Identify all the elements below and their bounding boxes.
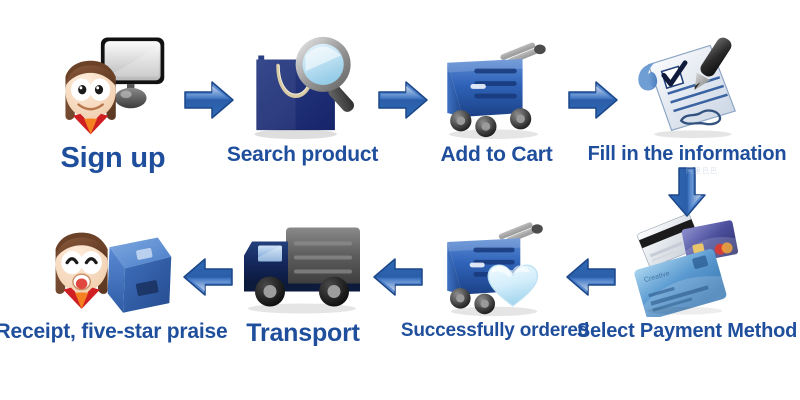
delivery-truck-icon (238, 212, 368, 317)
flowchart-canvas: Sign upSearch productAdd to CartFill in … (0, 0, 800, 400)
flow-step-search-product[interactable]: Search product (240, 30, 365, 165)
flow-step-label-sign-up: Sign up (61, 144, 166, 173)
user-at-computer-icon (48, 30, 178, 140)
flow-step-sign-up[interactable]: Sign up (48, 30, 178, 173)
flow-step-label-search-product: Search product (227, 144, 378, 165)
flow-step-receipt-five-star-praise[interactable]: Receipt, five-star praise (44, 212, 179, 342)
flow-step-fill-in-the-information[interactable]: Fill in the information (622, 30, 752, 164)
arrow-transport-to-receipt (182, 256, 234, 298)
flow-step-label-fill-in-the-information: Fill in the information (588, 144, 787, 164)
watermark-text: 阿里巴巴 (686, 166, 718, 176)
flow-step-label-transport: Transport (246, 321, 360, 346)
arrow-payment-to-ordered (565, 256, 617, 298)
customer-with-package-icon (44, 212, 179, 317)
flow-step-add-to-cart[interactable]: Add to Cart (434, 30, 559, 165)
flow-step-label-select-payment-method: Select Payment Method (577, 321, 797, 341)
arrow-signup-to-search (183, 79, 235, 121)
arrow-ordered-to-transport (372, 256, 424, 298)
flow-step-label-successfully-ordered: Successfully ordered (401, 321, 589, 340)
cart-with-heart-icon (430, 212, 560, 317)
credit-cards-icon: Creative (622, 212, 752, 317)
arrow-search-to-cart (377, 79, 429, 121)
arrow-cart-to-form (567, 79, 619, 121)
shopping-bag-magnifier-icon (240, 30, 365, 140)
shopping-cart-icon (434, 30, 559, 140)
flow-step-transport[interactable]: Transport (238, 212, 368, 346)
flow-step-select-payment-method[interactable]: CreativeSelect Payment Method (622, 212, 752, 341)
flow-step-label-add-to-cart: Add to Cart (440, 144, 552, 165)
flow-step-successfully-ordered[interactable]: Successfully ordered (430, 212, 560, 340)
form-with-pen-icon (622, 30, 752, 140)
flow-step-label-receipt-five-star-praise: Receipt, five-star praise (0, 321, 227, 342)
